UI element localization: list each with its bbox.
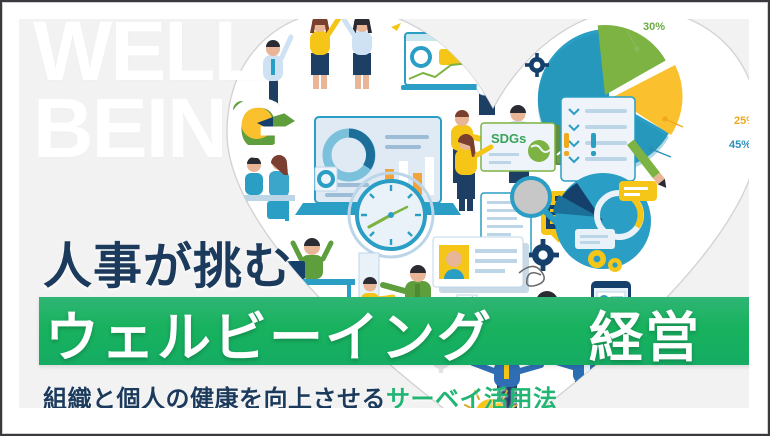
subtitle-plain: 組織と個人の健康を向上させる (43, 385, 386, 408)
subtitle-accent: サーベイ活用法 (386, 385, 558, 408)
banner-canvas: SDGs (19, 19, 749, 408)
headline-line-1: 人事が挑む (43, 227, 293, 298)
subtitle: 組織と個人の健康を向上させるサーベイ活用法 (43, 379, 558, 408)
band-text-right: 経営 (589, 293, 701, 372)
pie-chart-labels: 30% 25% 45% (419, 19, 749, 175)
ghost-wordmark: WELL BEING (33, 19, 453, 168)
headline-band-text: ウェルビーイング 経営 (45, 301, 749, 363)
pie-label-25: 25% (734, 115, 749, 127)
banner-frame: SDGs (0, 0, 770, 436)
band-text-left: ウェルビーイング (45, 293, 493, 372)
pie-label-45: 45% (729, 139, 749, 151)
pie-label-30: 30% (643, 21, 665, 33)
ghost-line-2: BEING (33, 90, 453, 167)
